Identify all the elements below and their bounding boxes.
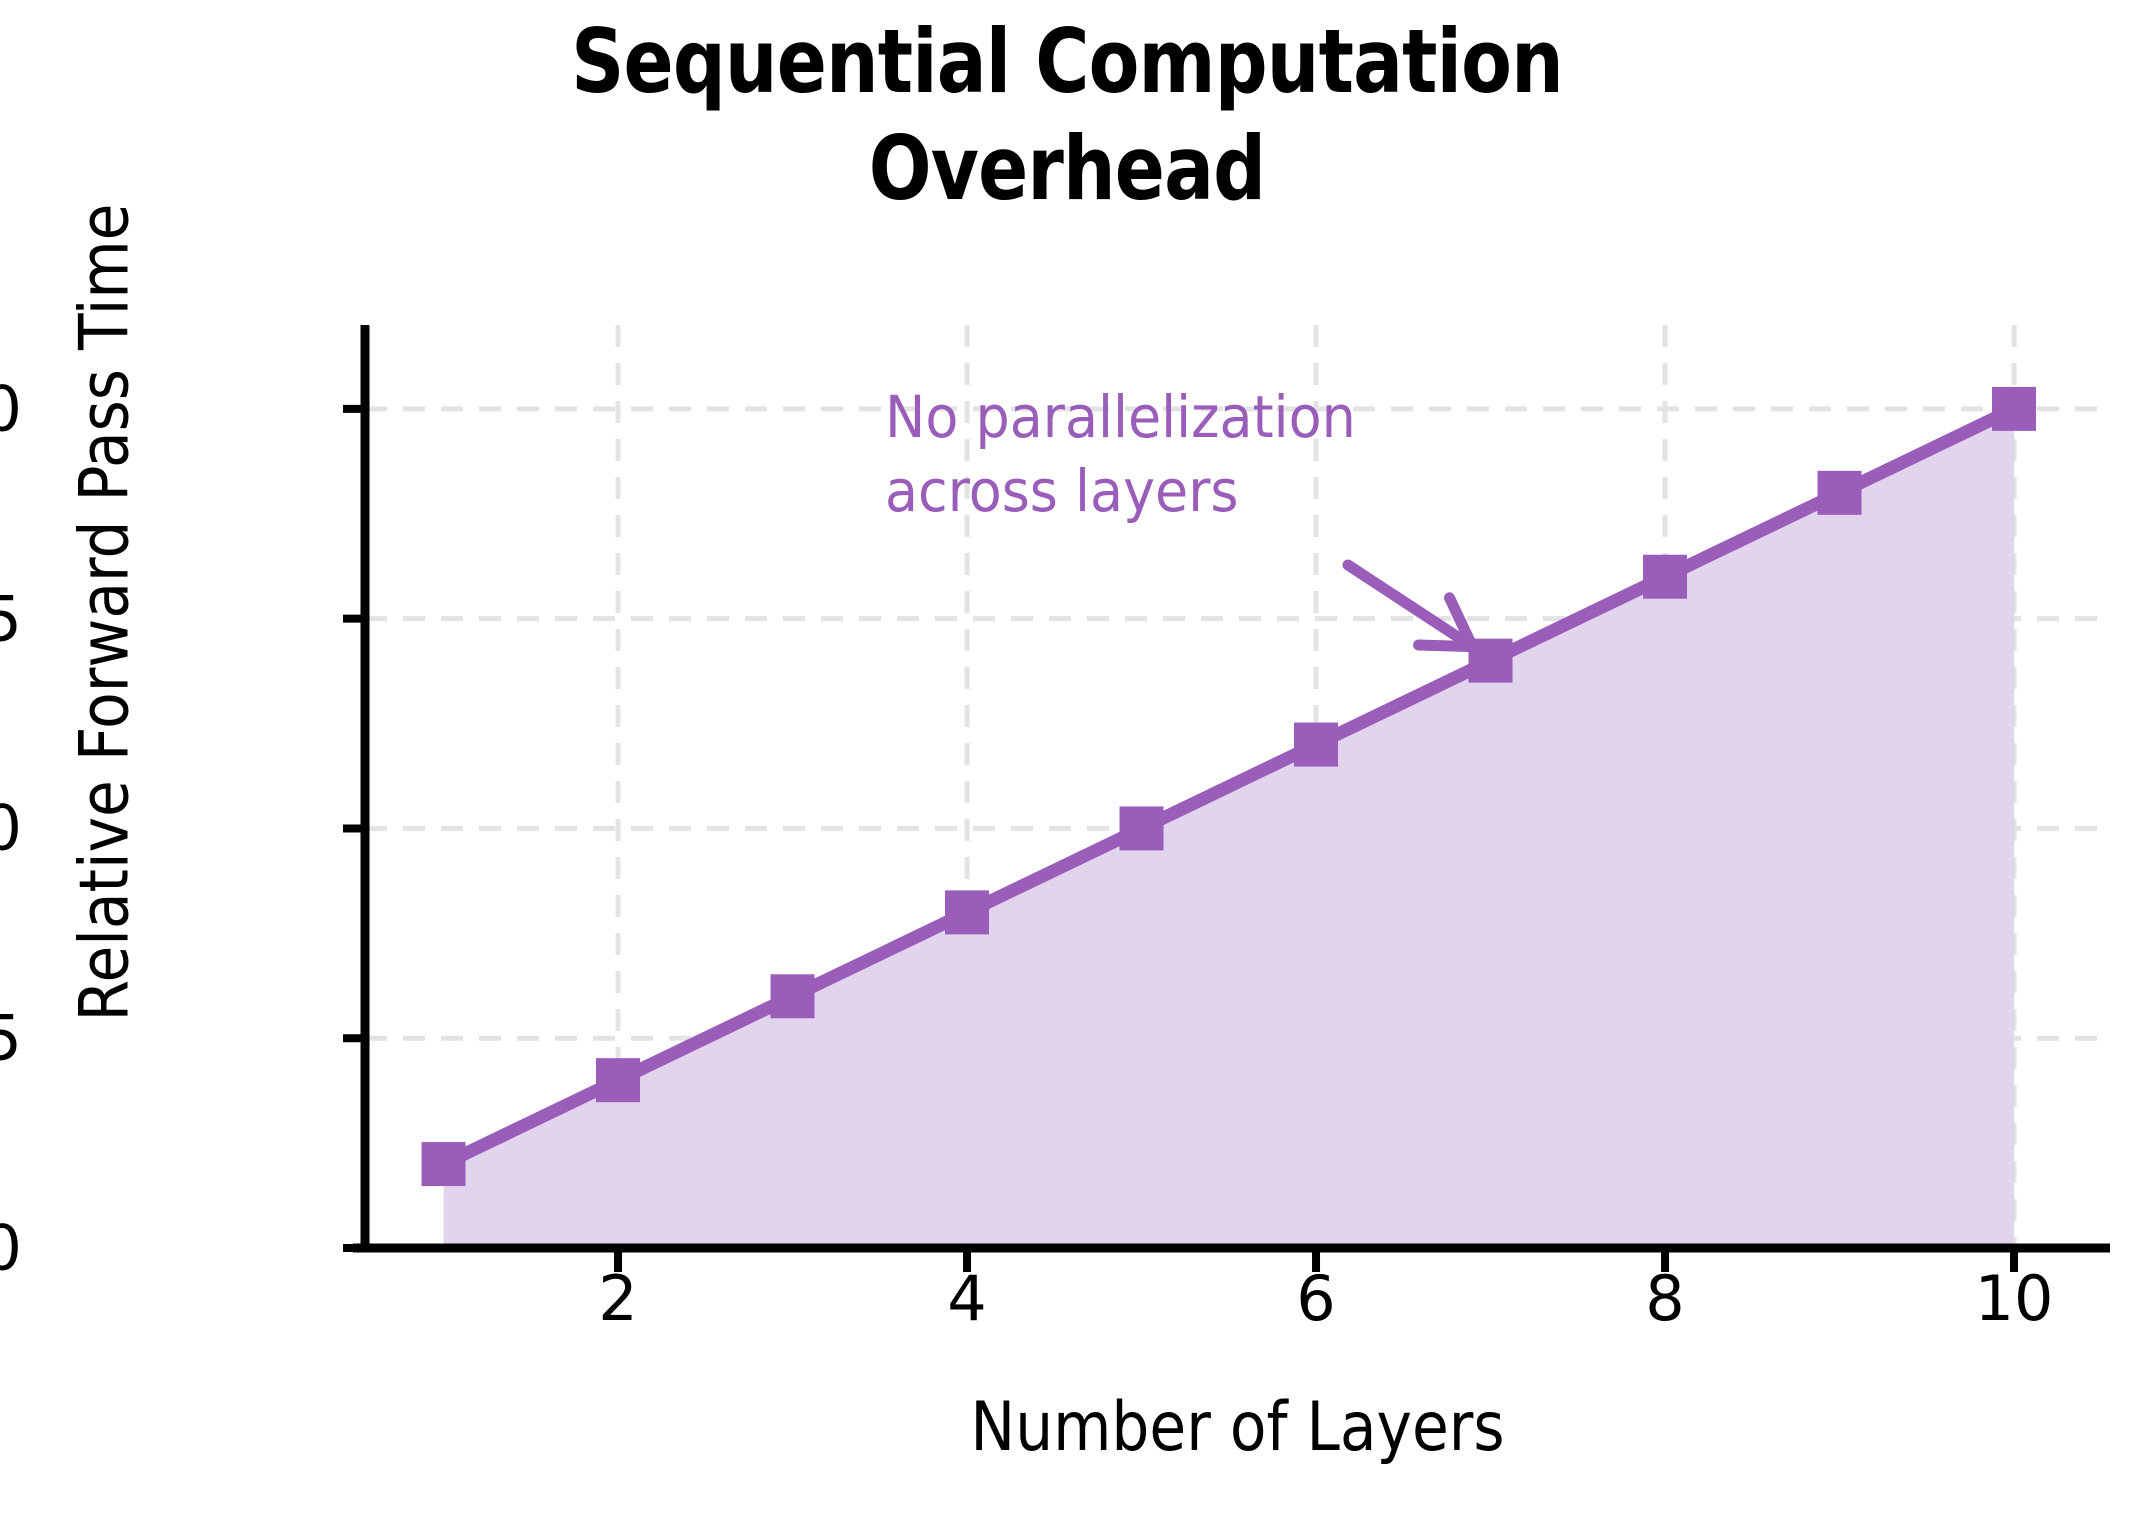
y-axis-label: Relative Forward Pass Time [66,173,145,1053]
data-point-marker [945,890,989,934]
data-point-marker [1120,806,1164,850]
y-tick-label: 10.0 [0,372,22,445]
data-point-marker [1469,639,1513,683]
data-point-marker [1294,723,1338,767]
x-axis-label: Number of Layers [470,1388,2006,1467]
x-tick-label: 8 [1565,1262,1765,1335]
annotation-arrow [1348,565,1473,647]
y-tick-label: 5.0 [0,792,22,865]
data-point-marker [422,1142,466,1186]
y-tick-label: 2.5 [0,1002,22,1075]
x-tick-label: 2 [518,1262,718,1335]
chart-title: Sequential Computation Overhead [171,8,1964,223]
chart-figure: Sequential Computation Overhead Relative… [0,0,2134,1534]
data-point-marker [1818,471,1862,515]
y-tick-label: 7.5 [0,582,22,655]
y-tick-label: 0.0 [0,1212,22,1285]
data-point-marker [1992,387,2036,431]
data-point-marker [596,1058,640,1102]
data-point-marker [1643,555,1687,599]
x-tick-label: 4 [867,1262,1067,1335]
annotation-label: No parallelization across layers [885,380,1356,528]
x-tick-label: 6 [1216,1262,1416,1335]
data-point-marker [771,974,815,1018]
x-tick-label: 10 [1914,1262,2114,1335]
